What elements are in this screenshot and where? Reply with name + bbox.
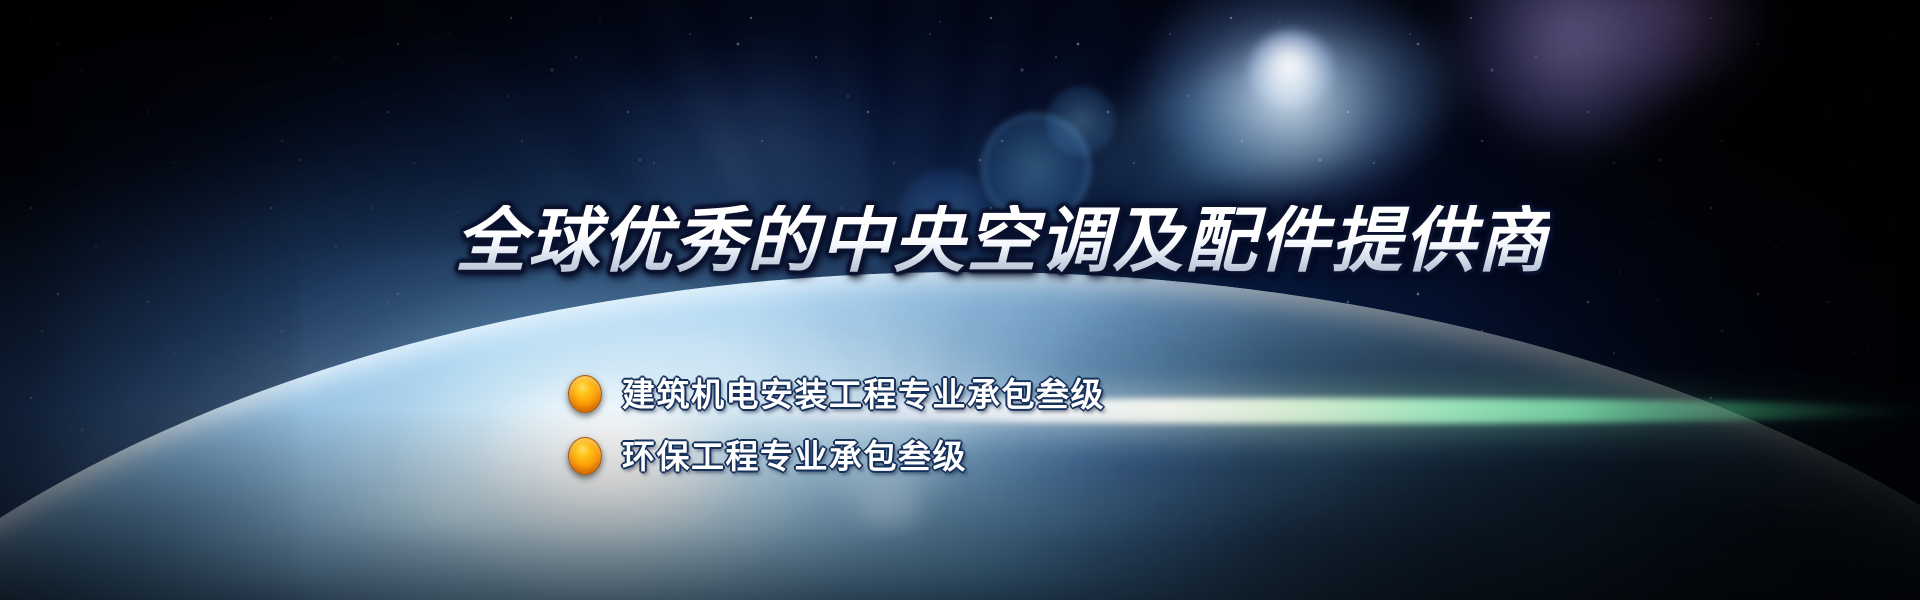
bullet-item-1: 建筑机电安装工程专业承包叁级 — [568, 368, 1105, 420]
banner-headline: 全球优秀的中央空调及配件提供商 — [455, 205, 1550, 276]
banner-bullet-list: 建筑机电安装工程专业承包叁级 环保工程专业承包叁级 — [568, 368, 1105, 492]
hero-banner: 全球优秀的中央空调及配件提供商 建筑机电安装工程专业承包叁级 环保工程专业承包叁… — [0, 0, 1920, 600]
orange-bullet-icon — [568, 437, 602, 475]
bullet-item-2: 环保工程专业承包叁级 — [568, 430, 1105, 482]
banner-content: 全球优秀的中央空调及配件提供商 建筑机电安装工程专业承包叁级 环保工程专业承包叁… — [0, 0, 1920, 600]
bullet-item-1-label: 建筑机电安装工程专业承包叁级 — [622, 378, 1105, 411]
bullet-item-2-label: 环保工程专业承包叁级 — [622, 440, 967, 473]
orange-bullet-icon — [568, 375, 602, 413]
